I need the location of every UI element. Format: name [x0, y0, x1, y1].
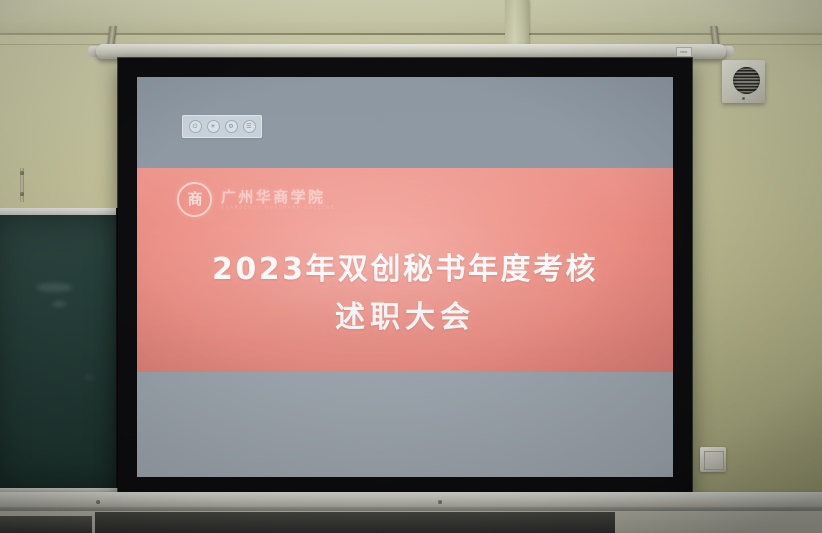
- light-switch-rocker[interactable]: [704, 451, 724, 470]
- school-name-en: GUANGZHOU HUASHANG COLLEGE: [221, 206, 336, 210]
- ceiling-edge-line: [0, 33, 822, 35]
- slide-title-line-1: 2023年双创秘书年度考核: [137, 246, 673, 294]
- classroom-scene: PRO ⏻ ☀ ⚙ ☰ 商: [0, 0, 822, 533]
- speaker-indicator-led: [742, 97, 745, 100]
- brightness-icon[interactable]: ☀: [207, 120, 220, 133]
- projection-screen-surface: ⏻ ☀ ⚙ ☰ 商 广州华商学院 GUANGZHOU HUASHANG COLL…: [137, 77, 673, 477]
- projection-screen-frame: ⏻ ☀ ⚙ ☰ 商 广州华商学院 GUANGZHOU HUASHANG COLL…: [118, 58, 692, 496]
- chalk-smudge: [36, 283, 72, 292]
- school-emblem-icon: 商: [177, 182, 212, 217]
- menu-icon[interactable]: ☰: [243, 120, 256, 133]
- chalk-smudge: [52, 301, 66, 307]
- slide-title-line-2: 述职大会: [137, 294, 673, 342]
- power-icon[interactable]: ⏻: [189, 120, 202, 133]
- projector-osd-toolbar[interactable]: ⏻ ☀ ⚙ ☰: [182, 115, 262, 138]
- chalkboard: [0, 215, 120, 493]
- school-name-cn: 广州华商学院: [221, 190, 336, 205]
- school-name-block: 广州华商学院 GUANGZHOU HUASHANG COLLEGE: [221, 190, 336, 210]
- slide-title: 2023年双创秘书年度考核 述职大会: [137, 246, 673, 342]
- emblem-glyph: 商: [187, 192, 201, 207]
- conduit-screw: [20, 192, 24, 196]
- front-desk-surface: [95, 512, 615, 533]
- front-desk-side: [0, 516, 92, 533]
- ceiling-band: [0, 0, 822, 34]
- settings-icon[interactable]: ⚙: [225, 120, 238, 133]
- housing-label-tag: PRO: [676, 47, 692, 57]
- ledge-screw: [96, 500, 100, 504]
- screen-roller-housing[interactable]: [96, 44, 726, 59]
- ledge-screw: [438, 500, 442, 504]
- conduit-screw: [20, 171, 24, 175]
- presentation-slide: 商 广州华商学院 GUANGZHOU HUASHANG COLLEGE 2023…: [137, 168, 673, 372]
- chalk-smudge: [84, 375, 94, 380]
- school-logo-lockup: 商 广州华商学院 GUANGZHOU HUASHANG COLLEGE: [177, 182, 336, 217]
- speaker-grille-icon: [733, 67, 760, 94]
